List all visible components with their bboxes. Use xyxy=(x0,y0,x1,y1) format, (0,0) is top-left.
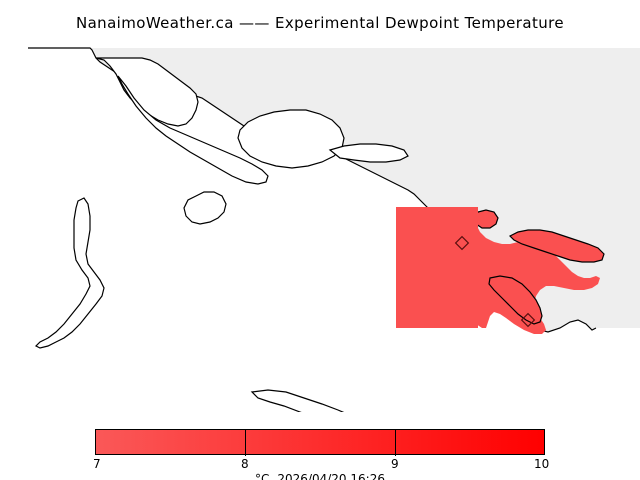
colorbar-gradient[interactable] xyxy=(95,429,545,455)
units-label: °C xyxy=(255,472,269,480)
coastline-map[interactable] xyxy=(0,46,640,412)
timestamp-label: 2026/04/20 16:26 xyxy=(277,472,385,480)
colorbar-label-9: 9 xyxy=(391,457,399,471)
colorbar-label-10: 10 xyxy=(534,457,549,471)
colorbar-tick-9 xyxy=(395,430,396,456)
colorbar-panel: 7 8 9 10 °C2026/04/20 16:26 xyxy=(0,412,640,480)
data-field-rect xyxy=(396,207,478,328)
island-long-south xyxy=(252,390,374,412)
page-title: NanaimoWeather.ca —— Experimental Dewpoi… xyxy=(76,14,564,32)
coastline-peninsula-notch xyxy=(184,192,226,224)
weather-map-page: NanaimoWeather.ca —— Experimental Dewpoi… xyxy=(0,0,640,480)
colorbar-label-7: 7 xyxy=(93,457,101,471)
island-narrow-west xyxy=(36,198,104,348)
colorbar-caption: °C2026/04/20 16:26 xyxy=(0,472,640,480)
title-bar: NanaimoWeather.ca —— Experimental Dewpoi… xyxy=(0,0,640,46)
landmass-mainland xyxy=(28,48,640,332)
map-panel[interactable] xyxy=(0,46,640,412)
colorbar-tick-8 xyxy=(245,430,246,456)
colorbar-label-8: 8 xyxy=(241,457,249,471)
coastline-gulf-upper-right xyxy=(238,110,344,168)
